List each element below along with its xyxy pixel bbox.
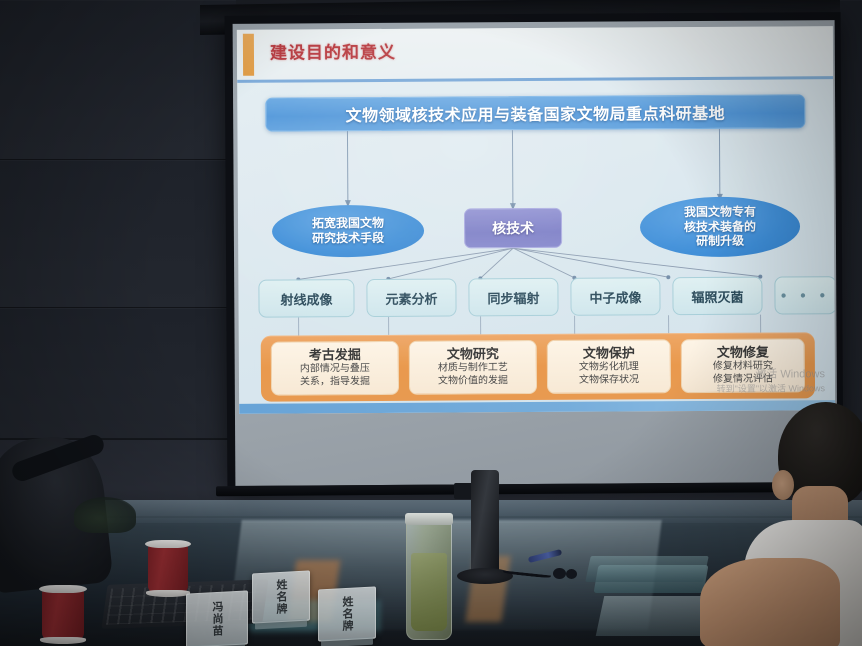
application-sub2-relic-protection: 文物保存状况 [579, 374, 639, 387]
application-card-archaeology: 考古发掘 内部情况与叠压 关系，指导发掘 [271, 341, 399, 396]
nameplate-2-text: 姓名牌 [273, 579, 289, 616]
nameplate-1: 冯尚苗 [186, 590, 248, 646]
nameplate-3-text: 姓名牌 [339, 596, 355, 633]
tech-chip-element-analysis: 元素分析 [366, 278, 456, 317]
header-accent-bar [243, 34, 254, 76]
node-equipment-line1: 我国文物专有 [684, 205, 756, 220]
tech-chip-synchrotron-radiation: 同步辐射 [468, 278, 558, 317]
tech-chip-ray-imaging: 射线成像 [258, 279, 354, 318]
root-node-banner: 文物领域核技术应用与装备国家文物局重点科研基地 [265, 94, 805, 131]
application-title-archaeology: 考古发掘 [309, 348, 361, 363]
wall-panel-left-lower [0, 308, 236, 440]
application-title-relic-protection: 文物保护 [583, 347, 635, 362]
watermark-line1: 激活 Windows [717, 367, 825, 383]
application-card-relic-research: 文物研究 材质与制作工艺 文物价值的发掘 [409, 340, 537, 395]
application-sub1-relic-protection: 文物劣化机理 [579, 362, 639, 375]
conference-microphone[interactable] [471, 470, 499, 578]
application-title-relic-research: 文物研究 [447, 347, 499, 362]
nameplate-3: 姓名牌 [318, 586, 376, 641]
node-equipment-line2: 核技术装备的 [684, 219, 756, 234]
application-sub2-archaeology: 关系，指导发掘 [300, 376, 370, 389]
tea-jar [406, 518, 452, 640]
paper-cup-front [42, 590, 84, 640]
tech-chip-neutron-imaging: 中子成像 [570, 277, 660, 316]
application-sub1-archaeology: 内部情况与叠压 [300, 363, 370, 376]
watermark-line2: 转到"设置"以激活 Windows [717, 382, 825, 395]
nameplate-1-text: 冯尚苗 [209, 601, 225, 638]
tech-chip-more-ellipsis: • • • [774, 276, 835, 314]
windows-activation-watermark: 激活 Windows 转到"设置"以激活 Windows [717, 367, 826, 395]
slide-header: 建设目的和意义 [237, 26, 833, 80]
nameplate-2: 姓名牌 [252, 570, 310, 623]
attendee-arm [700, 558, 840, 646]
node-nuclear-technology: 核技术 [464, 208, 562, 249]
application-sub2-relic-research: 文物价值的发掘 [438, 375, 508, 388]
nameplate-3-stand [321, 637, 373, 646]
tech-chip-irradiation-sterilization: 辐照灭菌 [672, 277, 762, 316]
application-card-relic-protection: 文物保护 文物劣化机理 文物保存状况 [547, 339, 671, 394]
node-broaden-line2: 研究技术手段 [312, 231, 384, 246]
wall-panel-left-mid [0, 160, 236, 308]
conference-room-scene: 建设目的和意义 文物领域核技术应用与装备国家文物局重点科研基地 [0, 0, 862, 646]
small-object-a [553, 568, 566, 579]
technology-chip-row: 射线成像 元素分析 同步辐射 中子成像 辐照灭菌 • • • [250, 276, 822, 317]
application-title-relic-restoration: 文物修复 [717, 346, 769, 361]
document-tray [585, 556, 709, 582]
slide-title: 建设目的和意义 [270, 38, 396, 64]
attendee-ear [772, 470, 794, 500]
node-broaden-research-methods: 拓宽我国文物 研究技术手段 [272, 205, 424, 258]
node-equipment-line3: 研制升级 [684, 234, 756, 249]
small-object-b [566, 569, 577, 579]
presentation-slide: 建设目的和意义 文物领域核技术应用与装备国家文物局重点科研基地 [237, 26, 835, 414]
node-broaden-line1: 拓宽我国文物 [312, 216, 384, 231]
paper-cup-back [148, 545, 188, 593]
node-dedicated-equipment-upgrade: 我国文物专有 核技术装备的 研制升级 [640, 196, 800, 257]
nameplate-1-stand [189, 643, 245, 646]
tea-jar-contents [411, 553, 447, 631]
application-sub1-relic-research: 材质与制作工艺 [438, 362, 508, 375]
tea-jar-lid [405, 513, 453, 525]
potted-plant [74, 497, 136, 533]
